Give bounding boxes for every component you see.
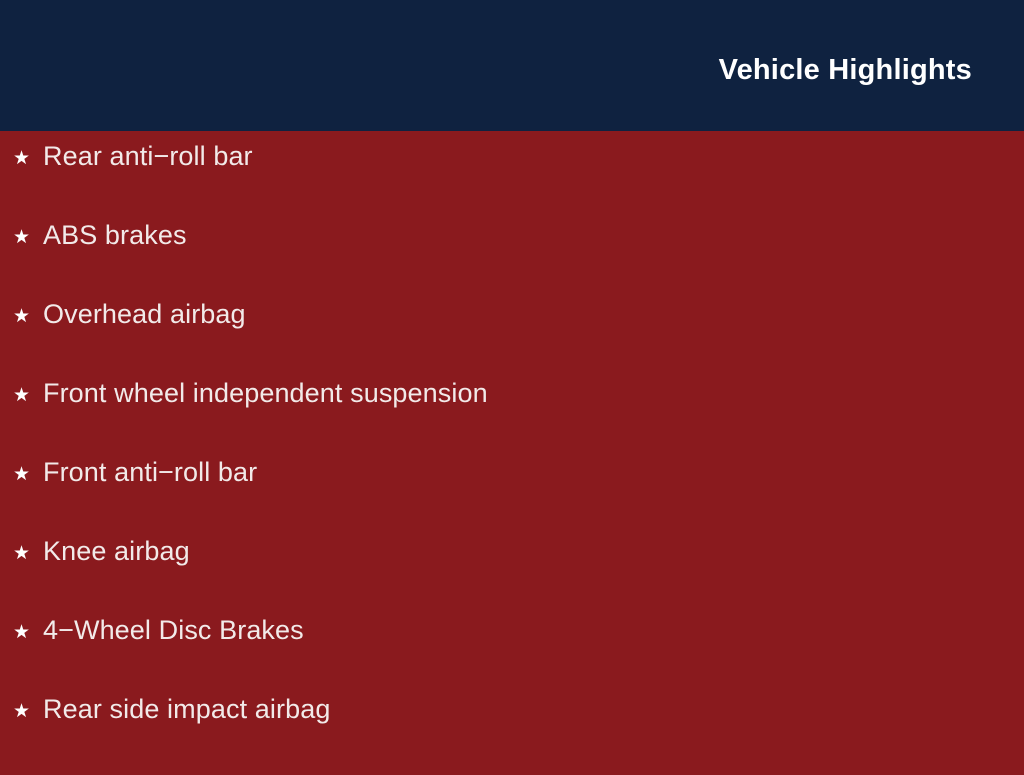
star-icon: ★ [13, 623, 43, 642]
list-item: ★ 4−Wheel Disc Brakes [0, 617, 1024, 696]
star-icon: ★ [13, 149, 43, 168]
list-item: ★ Rear anti−roll bar [0, 143, 1024, 222]
feature-label: ABS brakes [43, 222, 187, 249]
feature-label: Front wheel independent suspension [43, 380, 488, 407]
star-icon: ★ [13, 544, 43, 563]
list-item: ★ ABS brakes [0, 222, 1024, 301]
feature-label: 4−Wheel Disc Brakes [43, 617, 304, 644]
star-icon: ★ [13, 702, 43, 721]
feature-label: Rear side impact airbag [43, 696, 330, 723]
feature-label: Front anti−roll bar [43, 459, 257, 486]
page-title: Vehicle Highlights [719, 56, 972, 85]
star-icon: ★ [13, 465, 43, 484]
vehicle-feature-list: ★ Rear anti−roll bar ★ ABS brakes ★ Over… [0, 143, 1024, 775]
list-item: ★ Rear side impact airbag [0, 696, 1024, 775]
list-item: ★ Front anti−roll bar [0, 459, 1024, 538]
list-item: ★ Overhead airbag [0, 301, 1024, 380]
star-icon: ★ [13, 228, 43, 247]
feature-label: Overhead airbag [43, 301, 246, 328]
feature-label: Knee airbag [43, 538, 190, 565]
star-icon: ★ [13, 307, 43, 326]
feature-label: Rear anti−roll bar [43, 143, 253, 170]
list-item: ★ Knee airbag [0, 538, 1024, 617]
star-icon: ★ [13, 386, 43, 405]
slide-body: ★ Rear anti−roll bar ★ ABS brakes ★ Over… [0, 131, 1024, 768]
vehicle-highlights-slide: Vehicle Highlights ★ Rear anti−roll bar … [0, 0, 1024, 768]
list-item: ★ Front wheel independent suspension [0, 380, 1024, 459]
slide-header-band: Vehicle Highlights [0, 0, 1024, 131]
